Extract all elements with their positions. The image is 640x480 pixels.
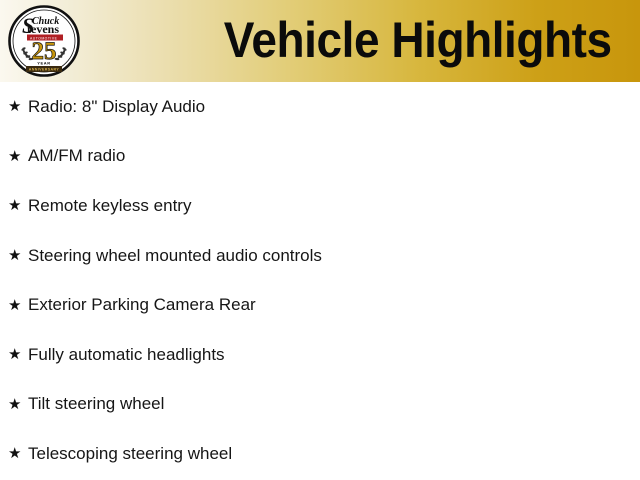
svg-text:YEAR: YEAR: [37, 61, 51, 66]
list-item: ★ Exterior Parking Camera Rear: [0, 280, 640, 330]
svg-text:ANNIVERSARY: ANNIVERSARY: [29, 67, 60, 71]
list-item: ★ Remote keyless entry: [0, 181, 640, 231]
star-icon: ★: [8, 198, 28, 213]
list-item: ★ AM/FM radio: [0, 132, 640, 182]
star-icon: ★: [8, 298, 28, 313]
vehicle-highlights-slide: S Chuck tevens AUTOMOTIVE: [0, 0, 640, 480]
list-item-label: Radio: 8" Display Audio: [28, 97, 640, 117]
list-item-label: Remote keyless entry: [28, 196, 640, 216]
chuck-stevens-automotive-logo: S Chuck tevens AUTOMOTIVE: [8, 4, 80, 78]
svg-text:tevens: tevens: [27, 22, 59, 36]
star-icon: ★: [8, 446, 28, 461]
list-item-label: Tilt steering wheel: [28, 394, 640, 414]
star-icon: ★: [8, 347, 28, 362]
list-item: ★ Telescoping steering wheel: [0, 429, 640, 479]
vehicle-highlights-list: ★ Radio: 8" Display Audio ★ AM/FM radio …: [0, 82, 640, 480]
list-item-label: Steering wheel mounted audio controls: [28, 246, 640, 266]
list-item: ★ Tilt steering wheel: [0, 380, 640, 430]
list-item-label: Telescoping steering wheel: [28, 444, 640, 464]
star-icon: ★: [8, 248, 28, 263]
star-icon: ★: [8, 397, 28, 412]
list-item: ★ Radio: 8" Display Audio: [0, 82, 640, 132]
list-item-label: Fully automatic headlights: [28, 345, 640, 365]
star-icon: ★: [8, 99, 28, 114]
list-item-label: Exterior Parking Camera Rear: [28, 295, 640, 315]
star-icon: ★: [8, 149, 28, 164]
header-banner: S Chuck tevens AUTOMOTIVE: [0, 0, 640, 82]
list-item: ★ Fully automatic headlights: [0, 330, 640, 380]
page-title: Vehicle Highlights: [224, 11, 612, 69]
list-item-label: AM/FM radio: [28, 146, 640, 166]
list-item: ★ Steering wheel mounted audio controls: [0, 231, 640, 281]
